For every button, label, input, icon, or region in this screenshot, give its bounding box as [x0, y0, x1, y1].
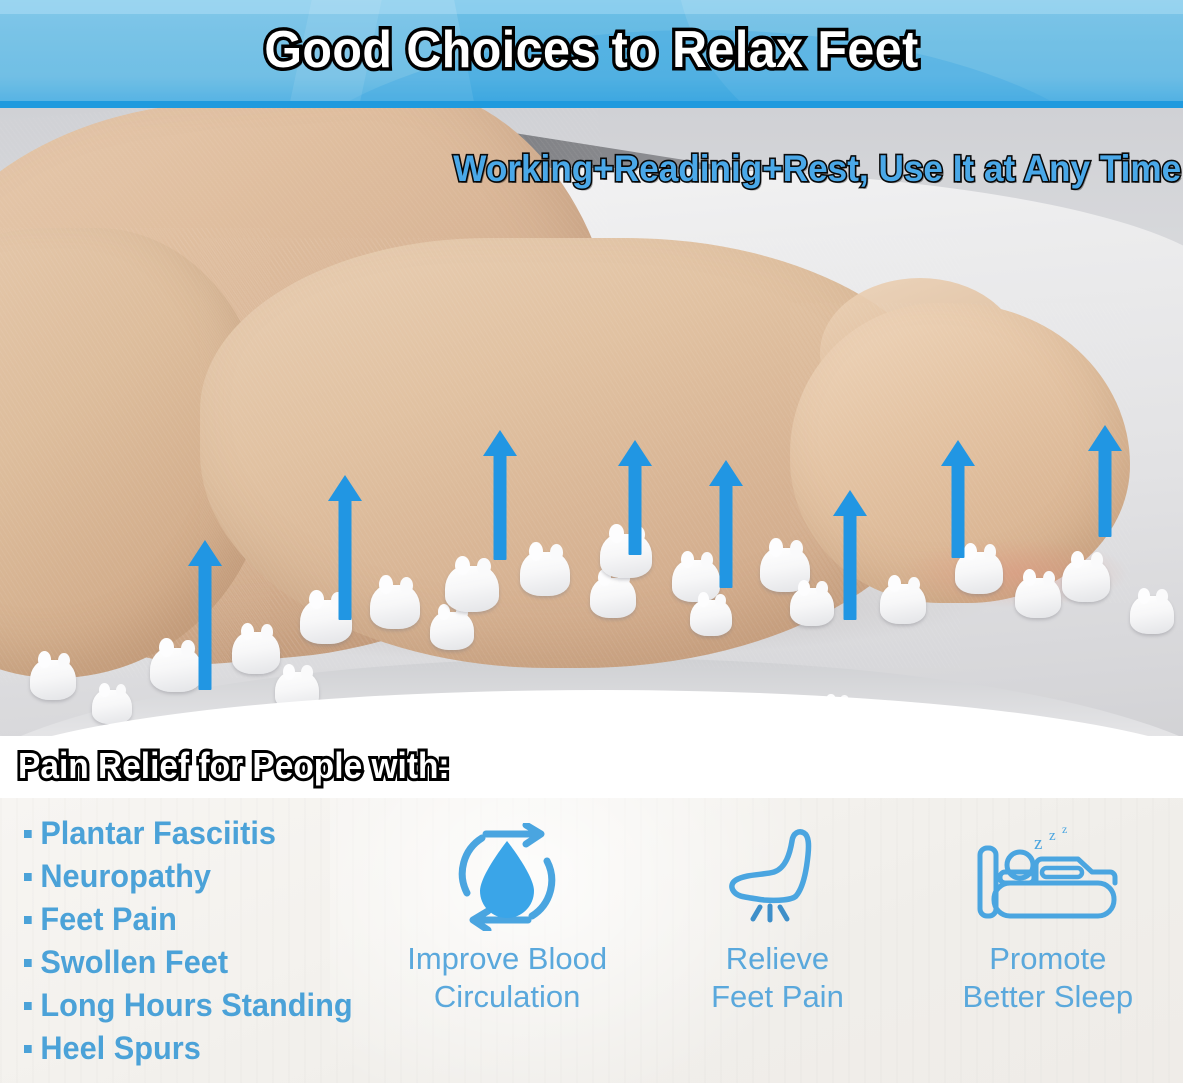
pressure-arrow-icon — [941, 440, 975, 558]
photo-subtitle: Working+Readinig+Rest, Use It at Any Tim… — [453, 146, 1181, 192]
list-item-label: Long Hours Standing — [40, 984, 352, 1027]
sleeping-person-bed-icon: z z z — [974, 822, 1122, 932]
water-drop-cycle-icon — [442, 822, 572, 932]
massage-nub — [955, 552, 1003, 594]
bullet-marker-icon — [24, 873, 32, 881]
list-item: Feet Pain — [24, 898, 360, 941]
massage-nub — [1015, 578, 1061, 618]
pressure-arrow-icon — [483, 430, 517, 560]
bullet-marker-icon — [24, 916, 32, 924]
list-item-label: Feet Pain — [40, 898, 177, 941]
benefits-row: Improve Blood Circulation Relieve Feet P… — [372, 798, 1183, 1083]
product-photo: Working+Readinig+Rest, Use It at Any Tim… — [0, 108, 1183, 798]
pain-relief-heading: Pain Relief for People with: — [18, 744, 450, 788]
massage-nub — [430, 612, 474, 650]
benefit-improve-blood-circulation: Improve Blood Circulation — [382, 798, 632, 1016]
pressure-arrow-icon — [709, 460, 743, 588]
list-item: Plantar Fasciitis — [24, 812, 360, 855]
bullet-marker-icon — [24, 1002, 32, 1010]
benefit-label: Relieve Feet Pain — [711, 940, 844, 1016]
massage-nub — [590, 578, 636, 618]
list-item-label: Swollen Feet — [40, 941, 228, 984]
massage-nub — [790, 588, 834, 626]
pressure-arrow-icon — [833, 490, 867, 620]
header-banner: Good Choices to Relax Feet — [0, 0, 1183, 110]
massage-nub — [370, 585, 420, 629]
foot-pain-icon — [712, 822, 842, 932]
svg-text:z: z — [1049, 828, 1056, 844]
benefit-promote-better-sleep: z z z Promote Better Sleep — [923, 798, 1173, 1016]
massage-nub — [1130, 596, 1174, 634]
bullet-marker-icon — [24, 959, 32, 967]
benefits-panel: Plantar FasciitisNeuropathyFeet PainSwol… — [0, 798, 1183, 1083]
list-item: Heel Spurs — [24, 1027, 360, 1070]
pressure-arrow-icon — [328, 475, 362, 620]
benefit-relieve-feet-pain: Relieve Feet Pain — [652, 798, 902, 1016]
list-item-label: Heel Spurs — [40, 1027, 200, 1070]
list-item: Neuropathy — [24, 855, 360, 898]
massage-nub — [520, 552, 570, 596]
list-item-label: Neuropathy — [40, 855, 211, 898]
massage-nub — [880, 584, 926, 624]
massage-nub — [445, 566, 499, 612]
bullet-marker-icon — [24, 1045, 32, 1053]
massage-nub — [232, 632, 280, 674]
pressure-arrow-icon — [618, 440, 652, 555]
massage-nub — [92, 690, 132, 724]
pressure-arrow-icon — [188, 540, 222, 690]
list-item: Swollen Feet — [24, 941, 360, 984]
conditions-list: Plantar FasciitisNeuropathyFeet PainSwol… — [24, 812, 374, 1070]
benefit-label: Promote Better Sleep — [963, 940, 1134, 1016]
massage-nub — [30, 660, 76, 700]
svg-text:z: z — [1062, 823, 1067, 836]
list-item: Long Hours Standing — [24, 984, 360, 1027]
massage-nub — [690, 600, 732, 636]
page-title: Good Choices to Relax Feet — [41, 17, 1141, 83]
list-item-label: Plantar Fasciitis — [40, 812, 276, 855]
svg-text:z: z — [1034, 833, 1042, 854]
product-infographic: Good Choices to Relax Feet Working+Readi… — [0, 0, 1183, 1083]
pressure-arrow-icon — [1088, 425, 1122, 537]
bullet-marker-icon — [24, 830, 32, 838]
benefit-label: Improve Blood Circulation — [407, 940, 607, 1016]
massage-nub — [1062, 560, 1110, 602]
